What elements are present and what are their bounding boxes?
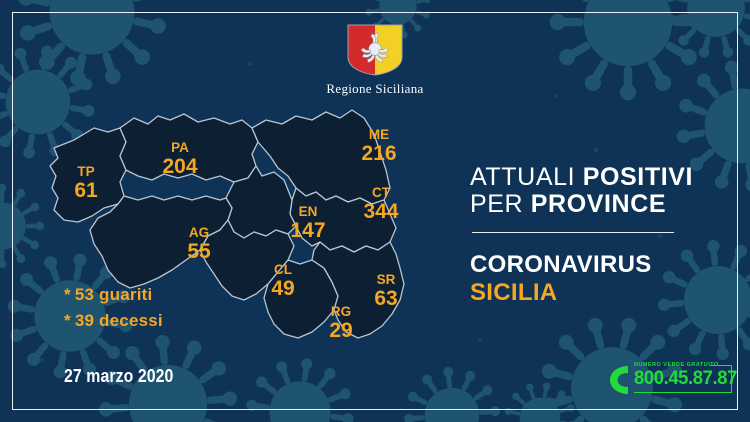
- headline-province: PROVINCE: [531, 190, 666, 218]
- summary-stats: *53 guariti *39 decessi: [64, 282, 294, 333]
- headline-positivi: POSITIVI: [583, 163, 693, 191]
- headline-per: PER: [470, 190, 523, 218]
- headline-divider: [472, 232, 674, 234]
- helpline-box[interactable]: NUMERO VERDE GRATUITO 800.45.87.87: [606, 360, 734, 398]
- stat-bullet-star: *: [64, 311, 71, 330]
- stat-line-guariti: *53 guariti: [64, 282, 294, 308]
- headline-line-1: ATTUALI POSITIVI: [470, 164, 730, 191]
- map-svg: TP 61 PA 204 ME 216 CT 344 EN 147 AG 55 …: [34, 104, 454, 374]
- phone-handset-icon: [608, 364, 632, 396]
- helpline-number: 800.45.87.87: [634, 368, 737, 390]
- regione-siciliana-logo: Regione Siciliana: [0, 24, 750, 97]
- helpline-rule-top: [710, 365, 732, 366]
- stat-text-guariti: 53 guariti: [75, 285, 153, 304]
- stat-line-decessi: *39 decessi: [64, 308, 294, 334]
- sicily-province-map: TP 61 PA 204 ME 216 CT 344 EN 147 AG 55 …: [34, 104, 454, 374]
- report-date: 27 marzo 2020: [64, 366, 173, 387]
- helpline-rule-bottom: [634, 392, 732, 393]
- stat-text-decessi: 39 decessi: [75, 311, 163, 330]
- logo-caption: Regione Siciliana: [0, 81, 750, 97]
- headline-block: ATTUALI POSITIVI PER PROVINCE CORONAVIRU…: [470, 164, 730, 308]
- stat-bullet-star: *: [64, 285, 71, 304]
- infographic-canvas: Regione Siciliana: [0, 0, 750, 422]
- headline-attuali: ATTUALI: [470, 163, 575, 191]
- subtitle-coronavirus: CORONAVIRUS: [470, 251, 730, 279]
- subtitle-sicilia: SICILIA: [470, 279, 730, 307]
- headline-line-2: PER PROVINCE: [470, 191, 730, 218]
- province-shape-pa[interactable]: [120, 114, 258, 182]
- trinacria-shield-icon: [346, 24, 404, 76]
